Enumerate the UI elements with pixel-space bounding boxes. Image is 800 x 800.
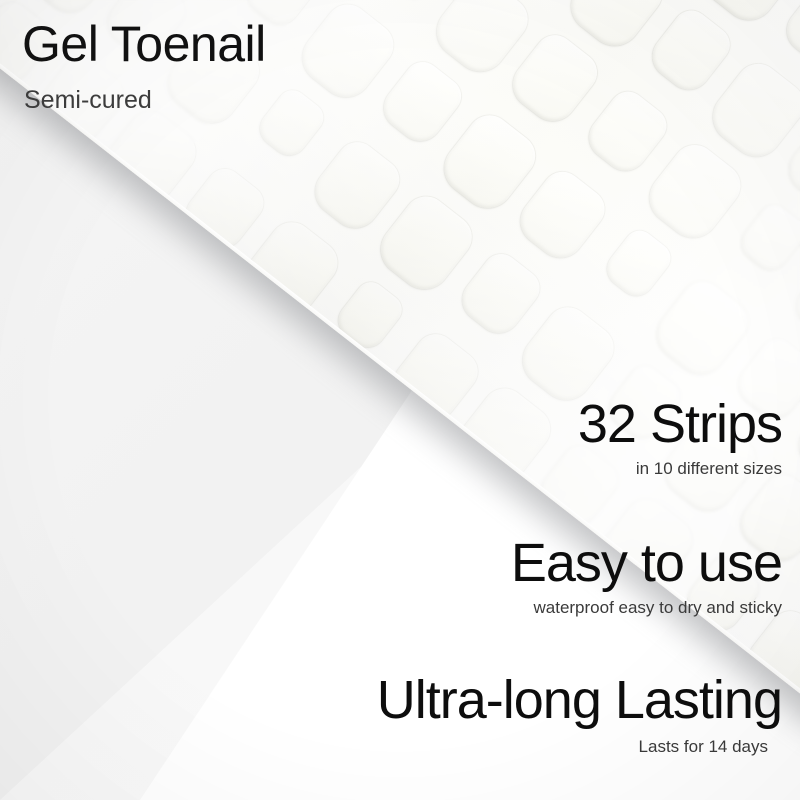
feature-easy-title: Easy to use [511,535,782,592]
feature-lasting-subtitle: Lasts for 14 days [377,737,782,757]
nail-strip [778,0,800,72]
feature-strips-subtitle: in 10 different sizes [578,459,782,479]
nail-strip [454,247,547,342]
nail-strip [292,0,402,107]
feature-easy-subtitle: waterproof easy to dry and sticky [511,598,782,618]
nail-strip [600,225,676,303]
nail-strip [511,164,613,267]
feature-easy-to-use: Easy to use waterproof easy to dry and s… [511,535,782,618]
nail-strip [434,107,544,219]
nail-strip [787,249,800,352]
nail-strip [703,55,800,167]
feature-strips-title: 32 Strips [578,396,782,453]
nail-strip [375,55,468,150]
page-subtitle: Semi-cured [24,86,152,115]
nail-strip [639,136,749,248]
feature-long-lasting: Ultra-long Lasting Lasts for 14 days [377,672,782,757]
nail-strip [371,188,481,300]
nail-strip [503,27,605,130]
nail-strip [306,134,408,237]
nail-strip [734,199,800,277]
nail-strip [644,3,737,98]
feature-strips: 32 Strips in 10 different sizes [578,396,782,479]
nail-strip [580,84,673,179]
feature-lasting-title: Ultra-long Lasting [377,672,782,729]
page-title: Gel Toenail [22,18,266,71]
product-banner: Gel Toenail Semi-cured 32 Strips in 10 d… [0,0,800,800]
nail-strip [374,0,459,7]
nail-strip [647,273,757,385]
nail-strip [253,84,329,162]
